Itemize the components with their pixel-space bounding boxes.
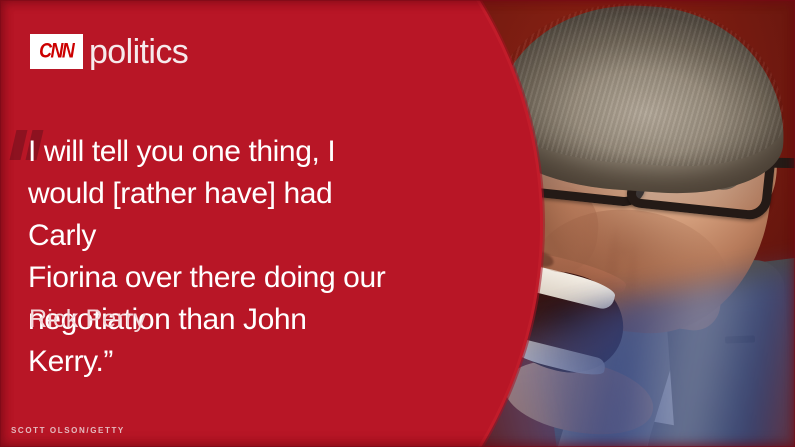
cnn-politics-logo[interactable]: CNN politics [30, 34, 188, 69]
cnn-logo-text: CNN [39, 41, 73, 62]
quote-text: I will tell you one thing, I would [rath… [28, 131, 393, 383]
cnn-logo-mark: CNN [30, 34, 83, 69]
quote-attribution: Rick Perry [29, 305, 146, 334]
photo-credit: SCOTT OLSON/GETTY [11, 426, 125, 435]
politics-wordmark: politics [89, 35, 188, 69]
cnn-politics-quote-card: CNN politics I will tell you one thing, … [0, 0, 795, 447]
